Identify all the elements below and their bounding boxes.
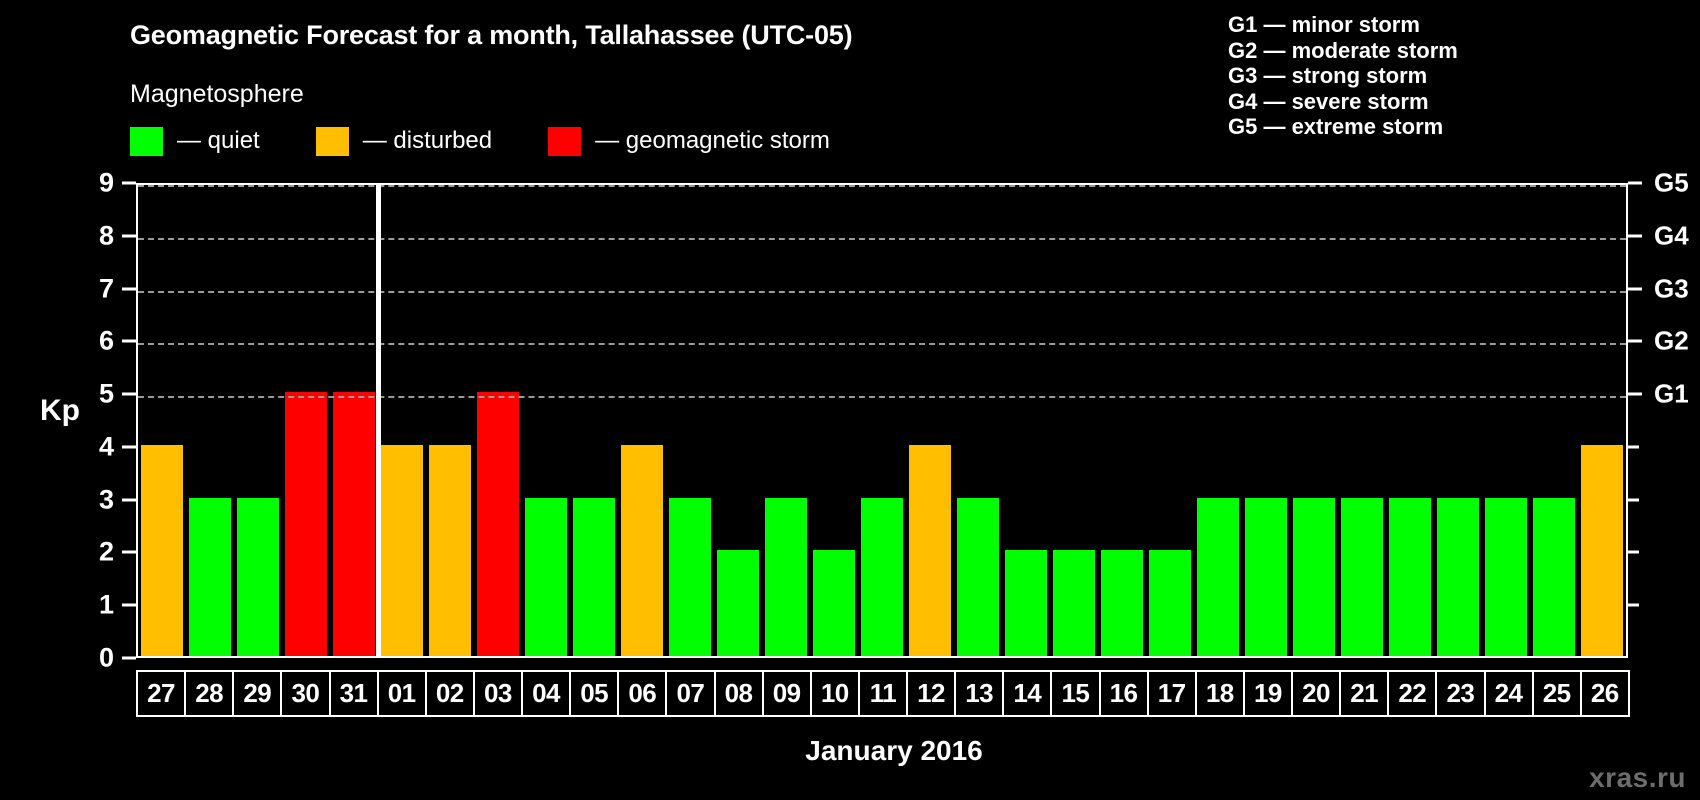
bar-day-18[interactable] [1197, 498, 1239, 656]
y-tick-label-9: 9 [99, 168, 114, 199]
bar-day-07[interactable] [669, 498, 711, 656]
x-axis-title: January 2016 [0, 735, 1700, 767]
y-tick-mark-8 [122, 234, 136, 237]
day-label-09[interactable]: 09 [762, 670, 812, 717]
bar-cell[interactable] [762, 185, 810, 656]
bar-day-09[interactable] [765, 498, 807, 656]
bar-cell[interactable] [186, 185, 234, 656]
disturbed-swatch [316, 127, 349, 156]
bar-cell[interactable] [1338, 185, 1386, 656]
day-label-05[interactable]: 05 [569, 670, 619, 717]
g-tick-mark-g1 [1628, 393, 1642, 396]
day-label-17[interactable]: 17 [1147, 670, 1197, 717]
legend-item-quiet: — quiet [130, 127, 260, 156]
bar-cell[interactable] [474, 185, 522, 656]
bar-cell[interactable] [1242, 185, 1290, 656]
bar-day-05[interactable] [573, 498, 615, 656]
bar-day-31[interactable] [333, 392, 375, 656]
bar-cell[interactable] [234, 185, 282, 656]
day-label-03[interactable]: 03 [473, 670, 523, 717]
g-tick-mark-g5 [1628, 182, 1642, 185]
bar-cell[interactable] [1530, 185, 1578, 656]
bar-cell[interactable] [1050, 185, 1098, 656]
bar-day-30[interactable] [285, 392, 327, 656]
y-tick-mark-7 [122, 287, 136, 290]
day-label-15[interactable]: 15 [1050, 670, 1100, 717]
watermark: xras.ru [1589, 762, 1686, 794]
x-axis-title-text: January 2016 [805, 735, 982, 766]
day-label-22[interactable]: 22 [1387, 670, 1437, 717]
bar-day-11[interactable] [861, 498, 903, 656]
day-label-19[interactable]: 19 [1243, 670, 1293, 717]
bar-series [138, 185, 1626, 656]
bar-cell[interactable] [570, 185, 618, 656]
y-tick-label-8: 8 [99, 220, 114, 251]
y-tick-label-5: 5 [99, 379, 114, 410]
bar-cell[interactable] [906, 185, 954, 656]
y-tick-mark-3 [122, 498, 136, 501]
y-tick-label-2: 2 [99, 537, 114, 568]
y-tick-label-1: 1 [99, 590, 114, 621]
bar-cell[interactable] [810, 185, 858, 656]
bar-day-14[interactable] [1005, 550, 1047, 656]
bar-day-17[interactable] [1149, 550, 1191, 656]
bar-day-25[interactable] [1533, 498, 1575, 656]
bar-cell[interactable] [714, 185, 762, 656]
day-label-29[interactable]: 29 [232, 670, 282, 717]
storm-key-row-g3: G3 — strong storm [1228, 63, 1458, 89]
storm-scale-key: G1 — minor stormG2 — moderate stormG3 — … [1228, 12, 1458, 140]
y-tick-label-0: 0 [99, 643, 114, 674]
bar-cell[interactable] [378, 185, 426, 656]
bar-day-20[interactable] [1293, 498, 1335, 656]
legend-label-storm: — geomagnetic storm [595, 127, 830, 155]
bar-cell[interactable] [1482, 185, 1530, 656]
y-tick-label-6: 6 [99, 326, 114, 357]
bar-cell[interactable] [1002, 185, 1050, 656]
bar-day-12[interactable] [909, 445, 951, 656]
g-tick-mark-g3 [1628, 287, 1642, 290]
bar-day-21[interactable] [1341, 498, 1383, 656]
month-separator-line [376, 183, 381, 658]
storm-key-row-g4: G4 — severe storm [1228, 89, 1458, 115]
day-label-26[interactable]: 26 [1580, 670, 1630, 717]
day-label-06[interactable]: 06 [617, 670, 667, 717]
y-tick-mark-0 [122, 657, 136, 660]
bar-cell[interactable] [1578, 185, 1626, 656]
y-tick-label-7: 7 [99, 273, 114, 304]
bar-cell[interactable] [1290, 185, 1338, 656]
day-label-12[interactable]: 12 [906, 670, 956, 717]
day-label-14[interactable]: 14 [1002, 670, 1052, 717]
bar-day-26[interactable] [1581, 445, 1623, 656]
g-tick-label-g2: G2 [1654, 326, 1689, 357]
storm-key-row-g1: G1 — minor storm [1228, 12, 1458, 38]
bar-day-08[interactable] [717, 550, 759, 656]
day-label-27[interactable]: 27 [136, 670, 186, 717]
bar-cell[interactable] [1386, 185, 1434, 656]
day-label-13[interactable]: 13 [954, 670, 1004, 717]
day-label-04[interactable]: 04 [521, 670, 571, 717]
day-label-20[interactable]: 20 [1291, 670, 1341, 717]
bar-day-22[interactable] [1389, 498, 1431, 656]
g-tick-label-g5: G5 [1654, 168, 1689, 199]
bar-cell[interactable] [666, 185, 714, 656]
y-tick-mark-5 [122, 393, 136, 396]
bar-day-01[interactable] [381, 445, 423, 656]
bar-day-16[interactable] [1101, 550, 1143, 656]
day-label-11[interactable]: 11 [858, 670, 908, 717]
day-label-23[interactable]: 23 [1435, 670, 1485, 717]
bar-cell[interactable] [954, 185, 1002, 656]
chart-canvas: Geomagnetic Forecast for a month, Tallah… [0, 0, 1700, 800]
bar-cell[interactable] [1434, 185, 1482, 656]
bar-cell[interactable] [282, 185, 330, 656]
bar-cell[interactable] [522, 185, 570, 656]
bar-day-06[interactable] [621, 445, 663, 656]
y-tick-label-3: 3 [99, 484, 114, 515]
storm-key-row-g2: G2 — moderate storm [1228, 38, 1458, 64]
bar-day-27[interactable] [141, 445, 183, 656]
bar-cell[interactable] [618, 185, 666, 656]
bar-cell[interactable] [426, 185, 474, 656]
day-label-16[interactable]: 16 [1099, 670, 1149, 717]
day-label-21[interactable]: 21 [1339, 670, 1389, 717]
legend-label-quiet: — quiet [177, 127, 260, 155]
g-axis: G1G2G3G4G5 [1628, 183, 1700, 658]
g-tick-mark-g4 [1628, 234, 1642, 237]
y-tick-mark-4 [122, 445, 136, 448]
bar-day-24[interactable] [1485, 498, 1527, 656]
g-axis-minor-tick-4 [1628, 445, 1639, 448]
day-label-01[interactable]: 01 [377, 670, 427, 717]
day-label-02[interactable]: 02 [425, 670, 475, 717]
day-label-30[interactable]: 30 [280, 670, 330, 717]
day-label-10[interactable]: 10 [810, 670, 860, 717]
day-label-07[interactable]: 07 [665, 670, 715, 717]
y-tick-mark-9 [122, 182, 136, 185]
bar-day-02[interactable] [429, 445, 471, 656]
page-title: Geomagnetic Forecast for a month, Tallah… [130, 20, 852, 51]
legend-label-disturbed: — disturbed [363, 127, 492, 155]
bar-day-10[interactable] [813, 550, 855, 656]
bar-day-19[interactable] [1245, 498, 1287, 656]
bar-day-23[interactable] [1437, 498, 1479, 656]
g-tick-mark-g2 [1628, 340, 1642, 343]
g-tick-label-g3: G3 [1654, 273, 1689, 304]
bar-day-28[interactable] [189, 498, 231, 656]
day-label-28[interactable]: 28 [184, 670, 234, 717]
g-axis-minor-tick-1 [1628, 604, 1639, 607]
g-axis-minor-tick-3 [1628, 498, 1639, 501]
day-label-08[interactable]: 08 [714, 670, 764, 717]
day-label-24[interactable]: 24 [1484, 670, 1534, 717]
g-tick-label-g1: G1 [1654, 379, 1689, 410]
legend-item-disturbed: — disturbed [316, 127, 492, 156]
storm-swatch [548, 127, 581, 156]
legend: — quiet — disturbed — geomagnetic storm [130, 126, 830, 156]
y-tick-label-4: 4 [99, 431, 114, 462]
bar-cell[interactable] [1098, 185, 1146, 656]
bar-cell[interactable] [1146, 185, 1194, 656]
g-tick-label-g4: G4 [1654, 220, 1689, 251]
legend-item-storm: — geomagnetic storm [548, 127, 830, 156]
bar-cell[interactable] [858, 185, 906, 656]
plot-area [136, 183, 1628, 658]
bar-day-13[interactable] [957, 498, 999, 656]
storm-key-row-g5: G5 — extreme storm [1228, 114, 1458, 140]
bar-cell[interactable] [138, 185, 186, 656]
day-label-31[interactable]: 31 [329, 670, 379, 717]
y-tick-mark-2 [122, 551, 136, 554]
bar-cell[interactable] [330, 185, 378, 656]
day-label-25[interactable]: 25 [1532, 670, 1582, 717]
bar-day-04[interactable] [525, 498, 567, 656]
bar-day-29[interactable] [237, 498, 279, 656]
y-axis-title: Kp [40, 394, 80, 428]
bar-day-03[interactable] [477, 392, 519, 656]
quiet-swatch [130, 127, 163, 156]
g-axis-minor-tick-2 [1628, 551, 1639, 554]
x-axis-day-labels: 2728293031010203040506070809101112131415… [136, 670, 1628, 717]
bar-cell[interactable] [1194, 185, 1242, 656]
bar-day-15[interactable] [1053, 550, 1095, 656]
y-tick-mark-1 [122, 604, 136, 607]
day-label-18[interactable]: 18 [1195, 670, 1245, 717]
y-tick-mark-6 [122, 340, 136, 343]
chart-subtitle: Magnetosphere [130, 80, 304, 109]
